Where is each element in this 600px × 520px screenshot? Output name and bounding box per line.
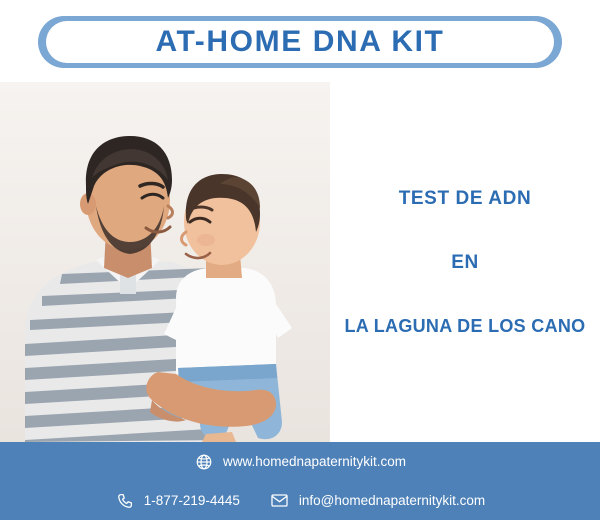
footer-row-contact: 1-877-219-4445 info@homednapaternitykit.… (0, 481, 600, 520)
phone-item[interactable]: 1-877-219-4445 (115, 491, 240, 511)
header-pill-inner: AT-HOME DNA KIT (46, 21, 554, 63)
email-item[interactable]: info@homednapaternitykit.com (270, 491, 485, 511)
globe-icon (194, 452, 214, 472)
phone-icon (115, 491, 135, 511)
headline-line-1: TEST DE ADN (399, 188, 532, 210)
email-address: info@homednapaternitykit.com (299, 494, 485, 508)
website-url: www.homednapaternitykit.com (223, 455, 406, 469)
photo-illustration (0, 82, 330, 442)
phone-number: 1-877-219-4445 (144, 494, 240, 508)
footer-row-website: www.homednapaternitykit.com (0, 442, 600, 481)
location-text-block: TEST DE ADN EN LA LAGUNA DE LOS CANO (330, 82, 600, 442)
page-title: AT-HOME DNA KIT (156, 25, 445, 59)
envelope-icon (270, 491, 290, 511)
headline-line-2: EN (451, 252, 479, 274)
header-pill: AT-HOME DNA KIT (38, 16, 562, 68)
poster-root: AT-HOME DNA KIT (0, 0, 600, 520)
header-band: AT-HOME DNA KIT (0, 0, 600, 82)
headline-line-3: LA LAGUNA DE LOS CANO (345, 316, 586, 337)
father-and-child-photo (0, 82, 330, 442)
website-item[interactable]: www.homednapaternitykit.com (194, 452, 406, 472)
footer-bar: www.homednapaternitykit.com 1-877-219-44… (0, 442, 600, 520)
